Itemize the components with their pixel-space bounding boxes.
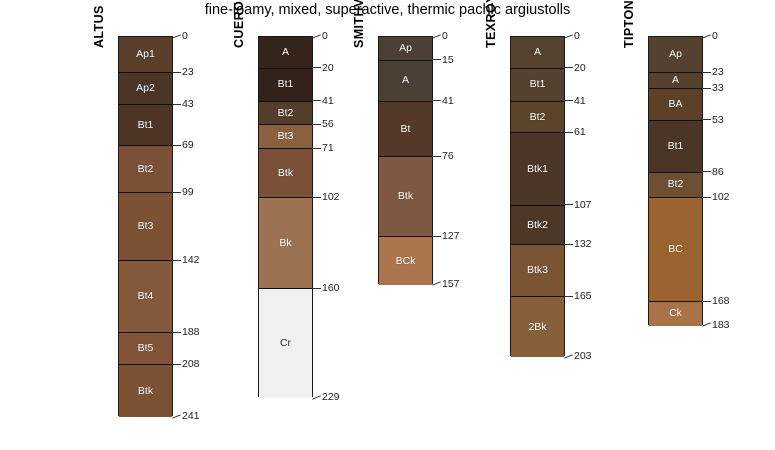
depth-tick: 76 [432, 151, 454, 162]
horizon-bc[interactable]: BC [649, 198, 702, 302]
depth-tick-line [312, 197, 321, 198]
depth-tick-line [702, 171, 711, 172]
horizon-label: Bt2 [668, 179, 684, 190]
horizon-label: Bt1 [138, 120, 154, 131]
horizon-label: Bt2 [138, 164, 154, 175]
depth-tick-label: 0 [574, 31, 580, 42]
depth-tick: 160 [312, 283, 340, 294]
depth-tick-label: 41 [442, 96, 454, 107]
depth-tick-label: 99 [182, 187, 194, 198]
profile-column: ApABABt1Bt2BCCk [648, 36, 703, 325]
horizon-label: Bk [279, 238, 291, 249]
depth-tick-line [312, 100, 321, 101]
depth-tick: 0 [172, 31, 188, 42]
depth-tick: 23 [702, 67, 724, 78]
depth-tick: 157 [432, 279, 460, 290]
depth-tick: 86 [702, 167, 724, 178]
depth-tick: 102 [702, 192, 730, 203]
horizon-label: A [282, 47, 289, 58]
horizon-label: Ap1 [136, 49, 155, 60]
horizon-bt1[interactable]: Bt1 [511, 69, 564, 102]
depth-tick: 53 [702, 115, 724, 126]
depth-tick: 165 [564, 291, 592, 302]
horizon-bt2[interactable]: Bt2 [259, 102, 312, 126]
horizon-label: Bt2 [278, 108, 294, 119]
depth-tick: 41 [312, 96, 334, 107]
horizon-cr[interactable]: Cr [259, 289, 312, 398]
horizon-label: 2Bk [528, 322, 546, 333]
depth-tick-line [564, 204, 573, 205]
horizon-label: Bt4 [138, 291, 154, 302]
depth-tick-line [432, 100, 441, 101]
horizon-bt1[interactable]: Bt1 [119, 105, 172, 146]
depth-tick-label: 23 [182, 67, 194, 78]
horizon-bt3[interactable]: Bt3 [119, 193, 172, 261]
horizon-label: Bt3 [278, 131, 294, 142]
depth-tick: 0 [312, 31, 328, 42]
depth-tick-line [564, 244, 573, 245]
horizon-btk[interactable]: Btk [379, 157, 432, 237]
depth-tick-line [432, 282, 441, 286]
horizon-ap2[interactable]: Ap2 [119, 73, 172, 105]
horizon-label: Ap [669, 49, 682, 60]
depth-tick: 23 [172, 67, 194, 78]
depth-tick-line [564, 34, 573, 38]
depth-tick-label: 165 [574, 291, 592, 302]
depth-tick-line [312, 395, 321, 399]
depth-tick: 102 [312, 192, 340, 203]
horizon-label: Ck [669, 308, 682, 319]
depth-tick-label: 132 [574, 239, 592, 250]
horizon-btk3[interactable]: Btk3 [511, 245, 564, 297]
horizon-bt2[interactable]: Bt2 [511, 102, 564, 134]
depth-tick-line [312, 124, 321, 125]
depth-tick-line [172, 104, 181, 105]
depth-tick: 71 [312, 143, 334, 154]
depth-tick-label: 208 [182, 359, 200, 370]
depth-tick-label: 107 [574, 200, 592, 211]
depth-tick-label: 157 [442, 279, 460, 290]
horizon-ba[interactable]: BA [649, 89, 702, 121]
depth-tick-label: 183 [712, 320, 730, 331]
depth-tick-label: 0 [322, 31, 328, 42]
horizon-bt1[interactable]: Bt1 [649, 121, 702, 173]
depth-tick-line [432, 59, 441, 60]
horizon-bt1[interactable]: Bt1 [259, 69, 312, 102]
profile-name-label: TIPTON [622, 0, 636, 48]
depth-tick-line [702, 197, 711, 198]
depth-tick-line [564, 354, 573, 358]
depth-tick: 132 [564, 239, 592, 250]
horizon-ck[interactable]: Ck [649, 302, 702, 326]
depth-tick-line [172, 34, 181, 38]
horizon-ap1[interactable]: Ap1 [119, 37, 172, 73]
depth-tick-line [172, 332, 181, 333]
profile-column: ApABtBtkBCk [378, 36, 433, 284]
horizon-ap[interactable]: Ap [379, 37, 432, 61]
horizon-bk[interactable]: Bk [259, 198, 312, 289]
page-title: fine-loamy, mixed, superactive, thermic … [0, 2, 775, 18]
horizon-a[interactable]: A [511, 37, 564, 69]
depth-tick-label: 0 [712, 31, 718, 42]
horizon-btk2[interactable]: Btk2 [511, 206, 564, 245]
depth-tick-label: 23 [712, 67, 724, 78]
depth-tick-label: 86 [712, 167, 724, 178]
depth-tick-line [172, 364, 181, 365]
depth-tick-line [172, 260, 181, 261]
depth-tick-label: 188 [182, 327, 200, 338]
horizon-bt2[interactable]: Bt2 [649, 173, 702, 198]
depth-tick: 0 [702, 31, 718, 42]
depth-tick: 107 [564, 200, 592, 211]
depth-tick-line [564, 100, 573, 101]
depth-tick-label: 20 [574, 63, 586, 74]
depth-tick-line [702, 301, 711, 302]
horizon-btk1[interactable]: Btk1 [511, 133, 564, 206]
depth-tick-label: 56 [322, 119, 334, 130]
depth-tick-label: 241 [182, 411, 200, 422]
horizon-a[interactable]: A [379, 61, 432, 102]
depth-tick-label: 0 [182, 31, 188, 42]
horizon-label: A [402, 75, 409, 86]
horizon-label: Btk [278, 168, 293, 179]
horizon-bt5[interactable]: Bt5 [119, 333, 172, 365]
depth-tick: 43 [172, 99, 194, 110]
horizon-label: Bt1 [530, 79, 546, 90]
depth-tick-line [432, 236, 441, 237]
profile-name-label: SMITHVILLE [352, 0, 366, 48]
depth-tick-label: 168 [712, 296, 730, 307]
depth-tick-label: 102 [322, 192, 340, 203]
depth-tick-label: 0 [442, 31, 448, 42]
depth-tick: 69 [172, 140, 194, 151]
depth-tick: 183 [702, 320, 730, 331]
depth-tick-label: 203 [574, 351, 592, 362]
horizon-a[interactable]: A [649, 73, 702, 89]
depth-tick: 15 [432, 55, 454, 66]
horizon-label: Btk [138, 386, 153, 397]
horizon-label: BC [668, 244, 683, 255]
horizon-label: Btk3 [527, 265, 548, 276]
horizon-label: A [672, 75, 679, 86]
horizon-bt4[interactable]: Bt4 [119, 261, 172, 334]
depth-tick: 208 [172, 359, 200, 370]
depth-tick: 188 [172, 327, 200, 338]
depth-tick-line [564, 296, 573, 297]
depth-tick-label: 41 [322, 96, 334, 107]
depth-tick: 20 [312, 63, 334, 74]
depth-tick: 99 [172, 187, 194, 198]
profile-column: ABt1Bt2Btk1Btk2Btk32Bk [510, 36, 565, 356]
depth-tick: 61 [564, 127, 586, 138]
depth-tick: 56 [312, 119, 334, 130]
depth-tick-line [432, 34, 441, 38]
horizon-label: Bt5 [138, 343, 154, 354]
depth-tick-line [172, 72, 181, 73]
horizon-bck[interactable]: BCk [379, 237, 432, 284]
horizon-label: Btk1 [527, 164, 548, 175]
depth-tick-line [702, 72, 711, 73]
depth-tick: 20 [564, 63, 586, 74]
depth-tick-label: 142 [182, 255, 200, 266]
profile-name-label: TEXROY [484, 0, 498, 48]
depth-tick-line [312, 148, 321, 149]
horizon-a[interactable]: A [259, 37, 312, 69]
depth-tick: 41 [564, 96, 586, 107]
horizon-label: Bt1 [278, 79, 294, 90]
depth-tick: 168 [702, 296, 730, 307]
depth-tick: 203 [564, 351, 592, 362]
depth-tick-line [564, 67, 573, 68]
depth-tick-line [432, 156, 441, 157]
depth-tick-label: 61 [574, 127, 586, 138]
profile-name-label: CUERO [232, 1, 246, 48]
horizon-label: Bt1 [668, 141, 684, 152]
horizon-label: Bt [401, 124, 411, 135]
depth-tick-line [702, 88, 711, 89]
horizon-label: Bt3 [138, 221, 154, 232]
depth-tick-label: 69 [182, 140, 194, 151]
horizon-bt[interactable]: Bt [379, 102, 432, 157]
horizon-label: BA [668, 99, 682, 110]
depth-tick-label: 102 [712, 192, 730, 203]
depth-tick-line [702, 323, 711, 327]
depth-tick: 0 [432, 31, 448, 42]
horizon-btk[interactable]: Btk [259, 149, 312, 198]
depth-tick-line [172, 414, 181, 418]
depth-tick-label: 160 [322, 283, 340, 294]
depth-tick-label: 43 [182, 99, 194, 110]
depth-tick-line [312, 288, 321, 289]
horizon-2bk[interactable]: 2Bk [511, 297, 564, 357]
depth-tick-label: 20 [322, 63, 334, 74]
depth-tick-line [702, 119, 711, 120]
depth-tick-line [312, 67, 321, 68]
horizon-label: BCk [396, 256, 416, 267]
depth-tick-label: 41 [574, 96, 586, 107]
depth-tick: 127 [432, 231, 460, 242]
depth-tick-label: 127 [442, 231, 460, 242]
depth-tick-label: 71 [322, 143, 334, 154]
horizon-label: A [534, 47, 541, 58]
depth-tick: 41 [432, 96, 454, 107]
profile-column: ABt1Bt2Bt3BtkBkCr [258, 36, 313, 397]
horizon-label: Cr [280, 338, 291, 349]
profile-column: Ap1Ap2Bt1Bt2Bt3Bt4Bt5Btk [118, 36, 173, 416]
depth-tick: 33 [702, 83, 724, 94]
profile-name-label: ALTUS [92, 5, 106, 48]
depth-tick-label: 33 [712, 83, 724, 94]
depth-tick-line [702, 34, 711, 38]
depth-tick-line [172, 145, 181, 146]
depth-tick-line [172, 192, 181, 193]
horizon-btk[interactable]: Btk [119, 365, 172, 417]
depth-tick: 142 [172, 255, 200, 266]
horizon-label: Btk [398, 191, 413, 202]
horizon-label: Bt2 [530, 112, 546, 123]
horizon-ap[interactable]: Ap [649, 37, 702, 73]
horizon-bt2[interactable]: Bt2 [119, 146, 172, 193]
depth-tick: 229 [312, 392, 340, 403]
depth-tick-label: 229 [322, 392, 340, 403]
horizon-label: Ap2 [136, 83, 155, 94]
depth-tick-line [564, 132, 573, 133]
depth-tick-label: 76 [442, 151, 454, 162]
depth-tick: 241 [172, 411, 200, 422]
horizon-label: Btk2 [527, 220, 548, 231]
depth-tick-label: 15 [442, 55, 454, 66]
depth-tick-line [312, 34, 321, 38]
horizon-label: Ap [399, 43, 412, 54]
depth-tick: 0 [564, 31, 580, 42]
horizon-bt3[interactable]: Bt3 [259, 125, 312, 149]
depth-tick-label: 53 [712, 115, 724, 126]
